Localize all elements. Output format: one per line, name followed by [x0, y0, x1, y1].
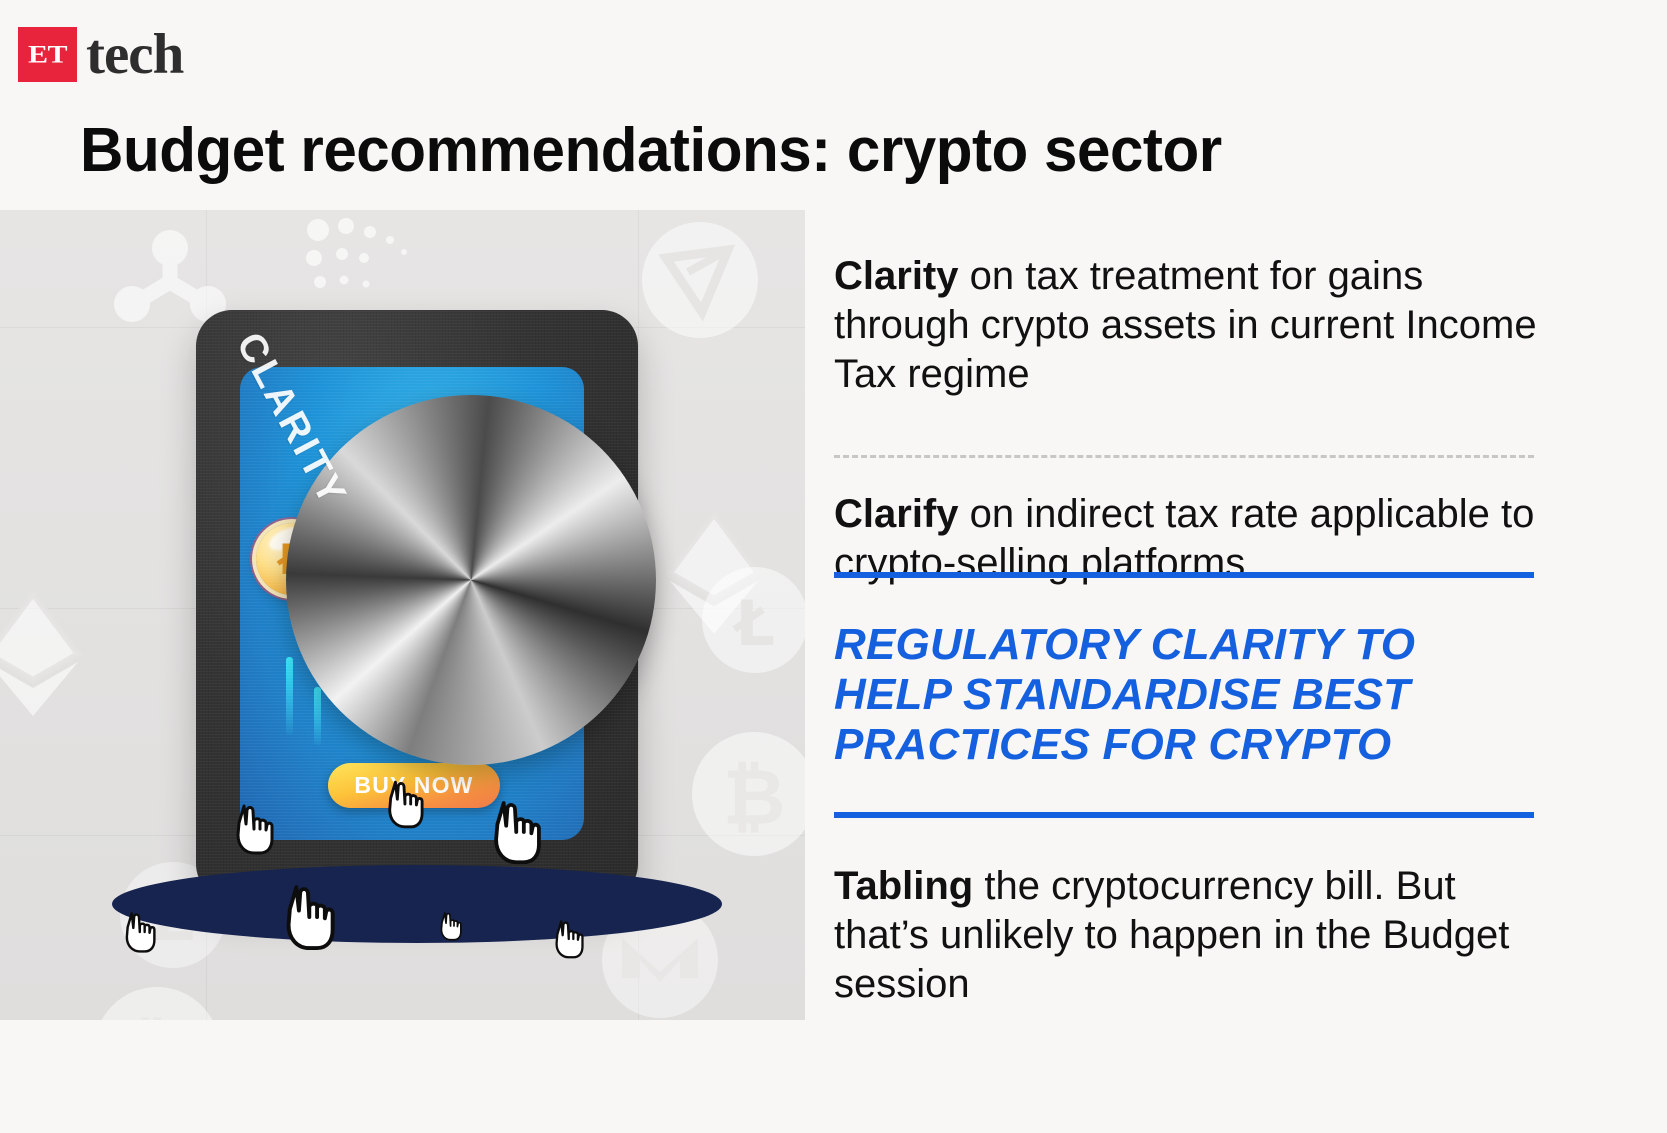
tech-logo-text: tech [86, 26, 183, 83]
hand-cursor-icon [122, 910, 156, 959]
ettech-logo[interactable]: ET tech [18, 26, 183, 83]
litecoin-logo-watermark: Ł [700, 565, 805, 675]
magnifier-icon [286, 395, 656, 765]
recommendation-lead-1: Clarity [834, 254, 959, 298]
pullquote: REGULATORY CLARITY TO HELP STANDARDISE B… [834, 620, 1540, 770]
ethereum-logo-watermark [0, 590, 88, 720]
hand-cursor-icon [384, 778, 424, 835]
divider-dashed [834, 455, 1534, 458]
page-footer [0, 1020, 1667, 1133]
recommendation-item-3: Tabling the cryptocurrency bill. But tha… [834, 862, 1540, 1010]
page-header: ET tech Budget recommendations: crypto s… [0, 0, 1667, 210]
bitcoin-logo-watermark: ₿ [92, 985, 222, 1020]
svg-text:₿: ₿ [125, 1009, 189, 1020]
magnifier-ring [286, 395, 656, 765]
hand-cursor-icon [552, 918, 584, 965]
illustration-panel: ₿ Z Ł ₿ [0, 210, 805, 1020]
iota-dots-watermark [300, 216, 430, 316]
bitcoin-logo-watermark-2: ₿ [690, 730, 805, 858]
hand-cursor-icon [232, 802, 274, 861]
svg-text:₿: ₿ [723, 754, 786, 843]
recommendation-lead-2: Clarify [834, 492, 959, 536]
et-logo-mark: ET [18, 27, 77, 82]
tablet-ground-shadow [112, 865, 722, 943]
page-title: Budget recommendations: crypto sector [80, 118, 1222, 183]
recommendation-lead-3: Tabling [834, 864, 973, 908]
et-logo-text: ET [28, 42, 67, 68]
ripple-logo-watermark [110, 230, 230, 326]
recommendations-column: Clarity on tax treatment for gains throu… [805, 210, 1667, 1020]
divider-blue-top [834, 572, 1534, 578]
recommendation-item-1: Clarity on tax treatment for gains throu… [834, 252, 1540, 400]
hand-cursor-icon [280, 882, 336, 957]
svg-text:Ł: Ł [732, 587, 775, 660]
divider-blue-bottom [834, 812, 1534, 818]
tron-logo-watermark [640, 220, 760, 340]
hand-cursor-icon [438, 910, 462, 947]
hand-cursor-icon [488, 798, 542, 871]
